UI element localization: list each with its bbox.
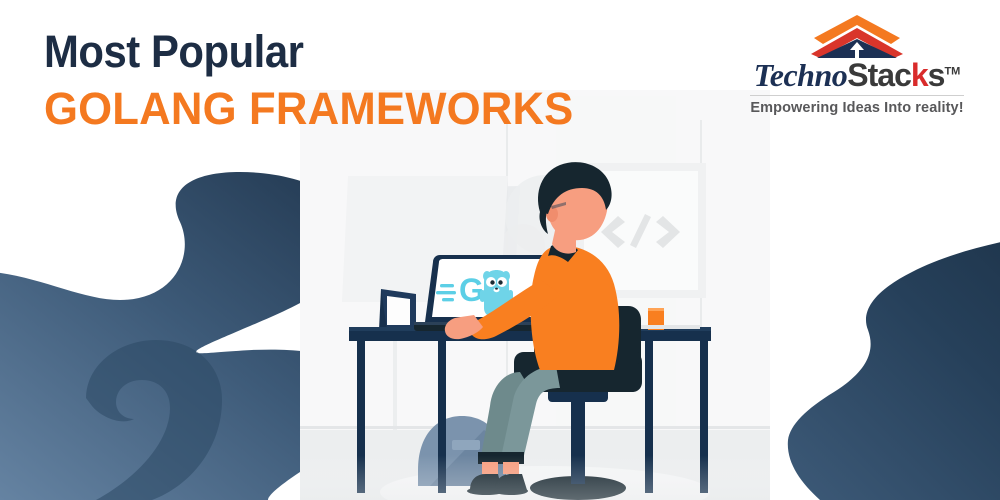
logo-tagline: Empowering Ideas Into reality! (748, 100, 966, 116)
banner-root: GO (0, 0, 1000, 500)
logo-word-techno: Techno (754, 57, 848, 93)
logo-word-stac: Stac (847, 57, 911, 93)
desk-picture-frame (379, 289, 416, 330)
headline-line-2: GOLANG FRAMEWORKS (44, 84, 573, 134)
logo-chevron-mark (748, 14, 966, 58)
logo-trademark-symbol: TM (944, 65, 960, 77)
logo-wordmark: TechnoStacksTM (748, 59, 966, 91)
technostacks-logo[interactable]: TechnoStacksTM Empowering Ideas Into rea… (748, 14, 966, 116)
headline-block: Most Popular GOLANG FRAMEWORKS (44, 26, 590, 134)
logo-divider (750, 95, 964, 96)
logo-word-k: k (911, 57, 928, 93)
headline-line-1: Most Popular (44, 26, 552, 78)
logo-word-s: s (928, 57, 945, 93)
